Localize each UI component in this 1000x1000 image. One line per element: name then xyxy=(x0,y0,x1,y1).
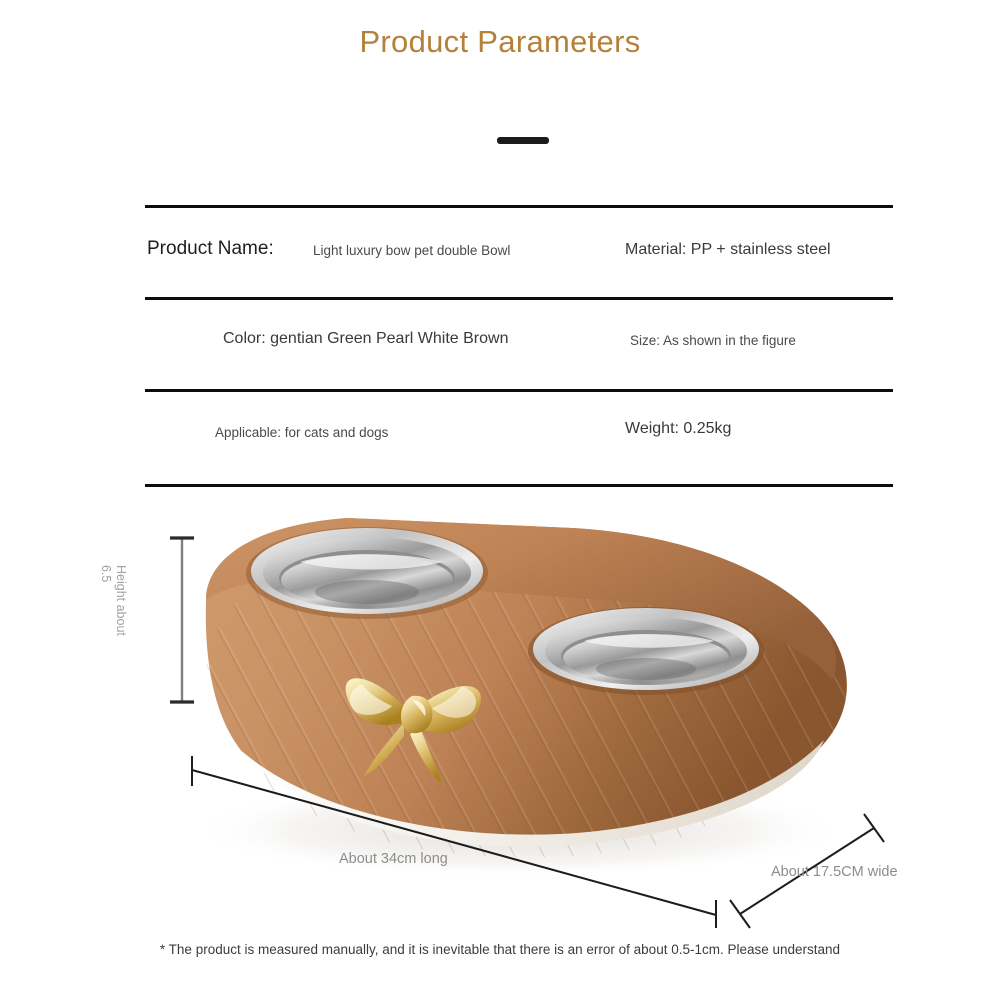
product-parameters-page: Product Parameters Product Name: Light l… xyxy=(0,0,1000,1000)
dimension-line-height xyxy=(170,538,194,702)
product-image xyxy=(0,0,1000,1000)
dimension-label-width: About 17.5CM wide xyxy=(771,864,898,880)
dimension-label-length: About 34cm long xyxy=(339,851,448,867)
dimension-label-height: Height about 6.5 xyxy=(98,565,128,685)
measurement-footnote: * The product is measured manually, and … xyxy=(0,942,1000,957)
dimension-height-line1: Height about xyxy=(113,565,128,685)
dimension-height-line2: 6.5 xyxy=(98,565,113,685)
